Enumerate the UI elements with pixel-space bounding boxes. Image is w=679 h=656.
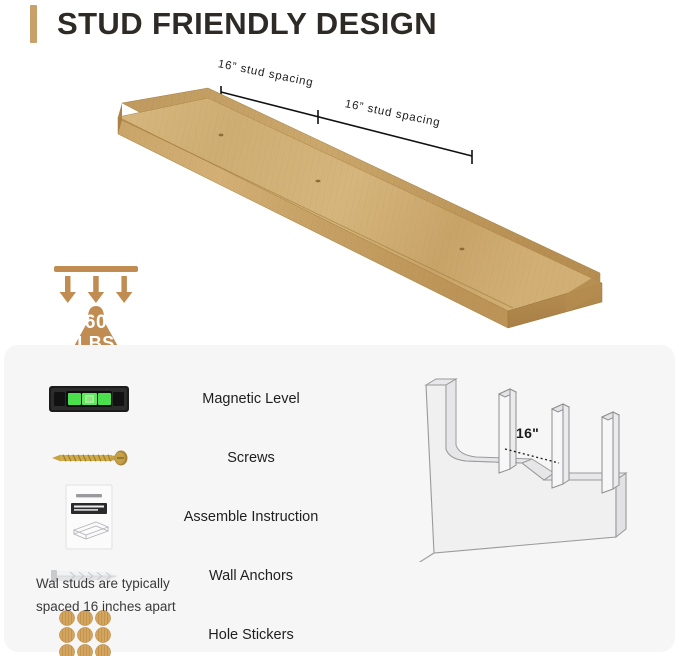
- drywall-curve-edge: [446, 379, 532, 463]
- accessories-panel: Magnetic Level: [4, 345, 675, 652]
- list-item: Screws: [44, 428, 374, 487]
- wall-stud-diagram: 16": [404, 377, 659, 562]
- list-item: Magnetic Level: [44, 369, 374, 428]
- accessory-label: Hole Stickers: [134, 627, 374, 643]
- accessory-label: Assemble Instruction: [134, 509, 374, 525]
- screw-hole: [316, 180, 321, 183]
- page-title: STUD FRIENDLY DESIGN: [57, 6, 437, 42]
- instruction-booklet-icon: [44, 489, 134, 545]
- accessory-label: Screws: [134, 450, 374, 466]
- stud-caption-line-2: spaced 16 inches apart: [36, 595, 291, 618]
- stud-caption-line-1: Wal studs are typically: [36, 572, 291, 595]
- accent-bar-icon: [30, 5, 37, 43]
- shelf-top-grain: [118, 98, 602, 311]
- shelf-bar-icon: [54, 266, 138, 272]
- screw-icon: [44, 430, 134, 486]
- screw-hole: [219, 134, 224, 137]
- magnetic-level-icon: [44, 371, 134, 427]
- stud-dimension-label: 16": [516, 425, 539, 441]
- hero-section: 16” stud spacing 16” stud spacing: [0, 40, 679, 340]
- floor-leader-line: [412, 553, 434, 562]
- down-arrow-icon: [116, 276, 132, 303]
- weight-value: 60: [46, 312, 146, 334]
- list-item: Assemble Instruction: [44, 487, 374, 546]
- down-arrow-icon: [88, 276, 105, 303]
- down-arrow-icon: [60, 276, 77, 303]
- wall-stud: [602, 412, 619, 493]
- product-infographic: STUD FRIENDLY DESIGN: [0, 0, 679, 656]
- wall-stud: [552, 404, 569, 488]
- wall-stud: [499, 389, 516, 473]
- accessory-label: Magnetic Level: [134, 391, 374, 407]
- stud-caption: Wal studs are typically spaced 16 inches…: [36, 572, 291, 618]
- screw-hole: [460, 248, 465, 251]
